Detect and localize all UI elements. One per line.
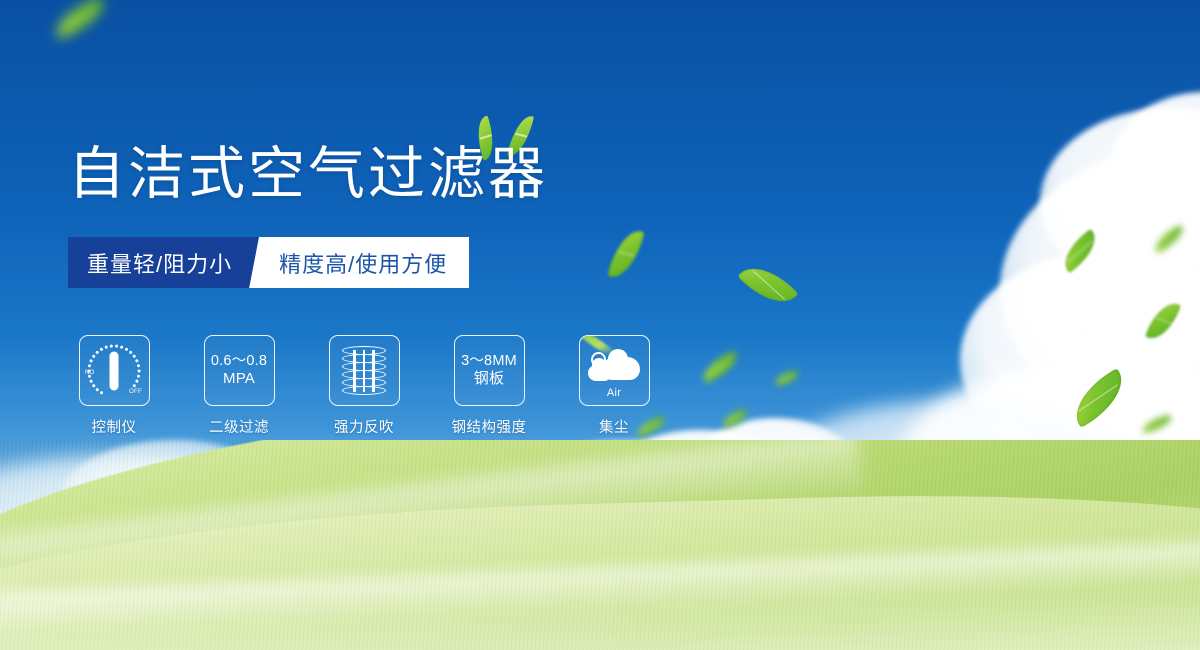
gauge-on-label: NO	[85, 370, 95, 376]
feature-item-steel-strength[interactable]: 3～8MM 钢板 钢结构强度	[443, 335, 535, 437]
feature-label-steel-strength: 钢结构强度	[452, 416, 527, 437]
feature-box-steel-strength[interactable]: 3～8MM 钢板	[454, 335, 525, 406]
banner: 自洁式空气过滤器 重量轻/阻力小 精度高/使用方便	[0, 0, 1200, 650]
feature-label-secondary-filter: 二级过滤	[209, 416, 269, 437]
gauge-needle-icon	[110, 351, 119, 390]
gauge-icon: NO OFF	[85, 343, 143, 399]
steel-line-2: 钢板	[461, 370, 517, 389]
feature-item-dust-collection[interactable]: Air 集尘	[568, 335, 660, 437]
feature-label-dust-collection: 集尘	[599, 416, 629, 437]
feature-box-controller[interactable]: NO OFF	[79, 335, 150, 406]
gauge-off-label: OFF	[129, 389, 142, 395]
pressure-line-2: MPA	[211, 370, 267, 389]
feature-item-controller[interactable]: NO OFF 控制仪	[68, 335, 160, 437]
subtitle-divider	[249, 237, 275, 288]
steel-plate-text-icon: 3～8MM 钢板	[461, 352, 517, 389]
steel-line-1: 3～8MM	[461, 352, 517, 370]
feature-item-backblow[interactable]: 强力反吹	[318, 335, 410, 437]
feature-box-secondary-filter[interactable]: 0.6～0.8 MPA	[204, 335, 275, 406]
feature-list: NO OFF 控制仪 0.6～0.8 MPA 二级过滤	[68, 335, 660, 437]
air-label: Air	[586, 387, 642, 399]
subtitle-right: 精度高/使用方便	[275, 237, 469, 288]
feature-box-backblow[interactable]	[329, 335, 400, 406]
subtitle-bar: 重量轻/阻力小 精度高/使用方便	[68, 237, 469, 288]
page-title: 自洁式空气过滤器	[68, 143, 548, 207]
subtitle-left: 重量轻/阻力小	[68, 237, 249, 288]
feature-label-backblow: 强力反吹	[334, 416, 394, 437]
feature-box-dust-collection[interactable]: Air	[579, 335, 650, 406]
pressure-text-icon: 0.6～0.8 MPA	[211, 352, 267, 389]
air-cloud-icon: Air	[586, 345, 642, 397]
feature-label-controller: 控制仪	[92, 416, 137, 437]
content-layer: 自洁式空气过滤器 重量轻/阻力小 精度高/使用方便	[0, 0, 1200, 650]
feature-item-secondary-filter[interactable]: 0.6～0.8 MPA 二级过滤	[193, 335, 285, 437]
pressure-line-1: 0.6～0.8	[211, 352, 267, 370]
filter-cartridge-icon	[342, 346, 386, 396]
